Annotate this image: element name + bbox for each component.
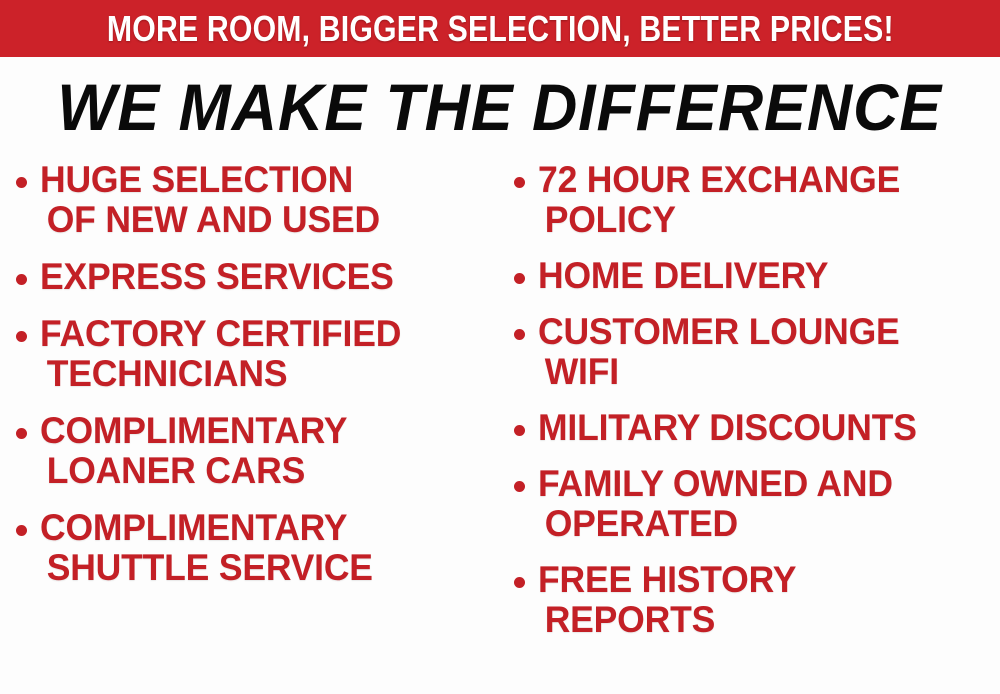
benefit-list-item: HUGE SELECTIONOF NEW AND USED bbox=[16, 160, 496, 240]
benefit-list-item: FREE HISTORYREPORTS bbox=[514, 560, 1000, 640]
headline-container: WE MAKE THE DIFFERENCE bbox=[0, 68, 1000, 146]
benefit-line: COMPLIMENTARY bbox=[40, 411, 478, 451]
benefit-list-item: FACTORY CERTIFIEDTECHNICIANS bbox=[16, 314, 496, 394]
benefit-line: HUGE SELECTION bbox=[40, 160, 478, 200]
page-title: WE MAKE THE DIFFERENCE bbox=[58, 74, 943, 140]
benefit-line: FREE HISTORY bbox=[538, 560, 982, 600]
benefit-list-item: HOME DELIVERY bbox=[514, 256, 1000, 296]
benefit-line: OF NEW AND USED bbox=[40, 200, 478, 240]
benefit-line: SHUTTLE SERVICE bbox=[40, 548, 478, 588]
benefits-columns: HUGE SELECTIONOF NEW AND USEDEXPRESS SER… bbox=[0, 160, 1000, 694]
benefit-line: FAMILY OWNED AND bbox=[538, 464, 982, 504]
benefit-list-item-label: FREE HISTORYREPORTS bbox=[538, 560, 982, 640]
bullet-dot-icon bbox=[514, 177, 525, 188]
benefit-line: TECHNICIANS bbox=[40, 354, 478, 394]
benefit-list-item-label: COMPLIMENTARYLOANER CARS bbox=[40, 411, 478, 491]
promotional-poster: MORE ROOM, BIGGER SELECTION, BETTER PRIC… bbox=[0, 0, 1000, 694]
benefit-list-item-label: HOME DELIVERY bbox=[538, 256, 982, 296]
bullet-dot-icon bbox=[514, 425, 525, 436]
benefit-list-item-label: EXPRESS SERVICES bbox=[40, 257, 478, 297]
benefit-list-item-label: MILITARY DISCOUNTS bbox=[538, 408, 982, 448]
benefit-list-item: 72 HOUR EXCHANGEPOLICY bbox=[514, 160, 1000, 240]
bullet-dot-icon bbox=[514, 329, 525, 340]
benefit-line: POLICY bbox=[538, 200, 982, 240]
benefit-list-item-label: COMPLIMENTARYSHUTTLE SERVICE bbox=[40, 508, 478, 588]
benefit-line: 72 HOUR EXCHANGE bbox=[538, 160, 982, 200]
benefit-line: COMPLIMENTARY bbox=[40, 508, 478, 548]
benefit-list-item-label: 72 HOUR EXCHANGEPOLICY bbox=[538, 160, 982, 240]
benefit-line: REPORTS bbox=[538, 600, 982, 640]
top-banner: MORE ROOM, BIGGER SELECTION, BETTER PRIC… bbox=[0, 0, 1000, 57]
benefit-line: FACTORY CERTIFIED bbox=[40, 314, 478, 354]
bullet-dot-icon bbox=[16, 525, 27, 536]
benefit-list-item: EXPRESS SERVICES bbox=[16, 257, 496, 297]
benefit-list-item: COMPLIMENTARYSHUTTLE SERVICE bbox=[16, 508, 496, 588]
benefit-list-item-label: HUGE SELECTIONOF NEW AND USED bbox=[40, 160, 478, 240]
benefits-column-right: 72 HOUR EXCHANGEPOLICYHOME DELIVERYCUSTO… bbox=[514, 160, 1000, 656]
bullet-dot-icon bbox=[16, 177, 27, 188]
benefit-line: OPERATED bbox=[538, 504, 982, 544]
bullet-dot-icon bbox=[514, 273, 525, 284]
bullet-dot-icon bbox=[514, 481, 525, 492]
benefit-line: WIFI bbox=[538, 352, 982, 392]
benefit-list-item: COMPLIMENTARYLOANER CARS bbox=[16, 411, 496, 491]
benefit-line: LOANER CARS bbox=[40, 451, 478, 491]
benefit-line: HOME DELIVERY bbox=[538, 256, 982, 296]
benefit-list-item-label: FAMILY OWNED ANDOPERATED bbox=[538, 464, 982, 544]
benefits-column-left: HUGE SELECTIONOF NEW AND USEDEXPRESS SER… bbox=[16, 160, 496, 605]
benefit-list-item: MILITARY DISCOUNTS bbox=[514, 408, 1000, 448]
benefit-list-item-label: CUSTOMER LOUNGEWIFI bbox=[538, 312, 982, 392]
bullet-dot-icon bbox=[16, 331, 27, 342]
bullet-dot-icon bbox=[16, 274, 27, 285]
benefit-list-item: CUSTOMER LOUNGEWIFI bbox=[514, 312, 1000, 392]
benefit-list-item: FAMILY OWNED ANDOPERATED bbox=[514, 464, 1000, 544]
benefit-line: EXPRESS SERVICES bbox=[40, 257, 478, 297]
benefit-list-item-label: FACTORY CERTIFIEDTECHNICIANS bbox=[40, 314, 478, 394]
banner-headline-text: MORE ROOM, BIGGER SELECTION, BETTER PRIC… bbox=[107, 11, 894, 47]
bullet-dot-icon bbox=[16, 428, 27, 439]
benefit-line: CUSTOMER LOUNGE bbox=[538, 312, 982, 352]
benefit-line: MILITARY DISCOUNTS bbox=[538, 408, 982, 448]
bullet-dot-icon bbox=[514, 577, 525, 588]
